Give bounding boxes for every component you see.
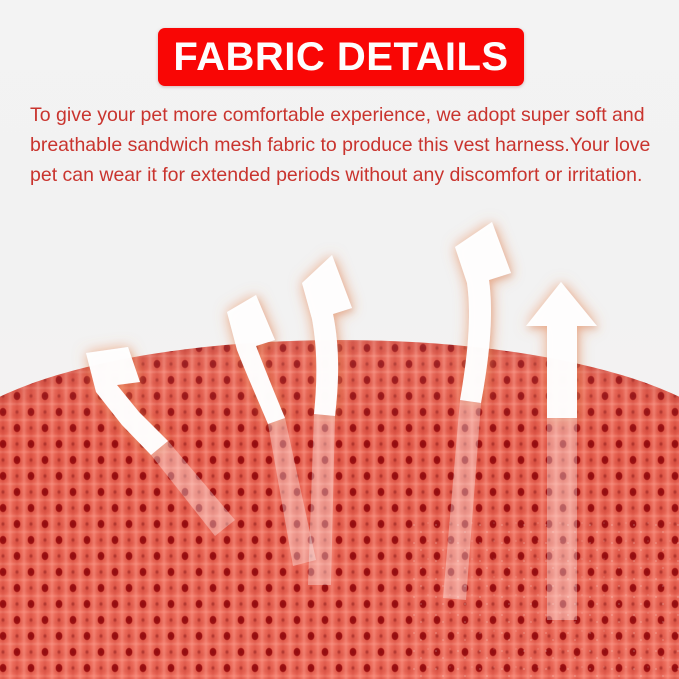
fabric-swatch-region (0, 340, 679, 679)
description-paragraph: To give your pet more comfortable experi… (30, 100, 655, 190)
section-title-banner: FABRIC DETAILS (158, 28, 524, 86)
description-line-1: To give your pet more comfortable experi… (30, 100, 655, 130)
fabric-details-infographic: FABRIC DETAILS To give your pet more com… (0, 0, 679, 679)
mesh-speckle-detail (410, 520, 679, 679)
page-title: FABRIC DETAILS (173, 37, 508, 77)
description-line-3: pet can wear it for extended periods wit… (30, 160, 655, 190)
mesh-fabric-texture (0, 340, 679, 679)
description-line-2: breathable sandwich mesh fabric to produ… (30, 130, 655, 160)
